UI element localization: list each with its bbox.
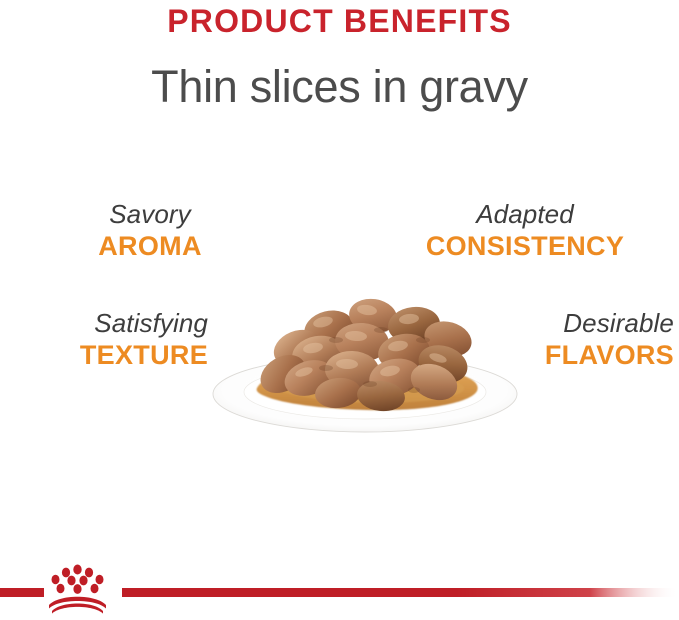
page-title: Thin slices in gravy: [0, 59, 679, 114]
benefit-noun: CONSISTENCY: [380, 230, 670, 262]
benefit-callout-aroma: Savory AROMA: [0, 199, 300, 262]
benefit-adjective: Satisfying: [0, 308, 208, 339]
benefit-callout-texture: Satisfying TEXTURE: [0, 308, 208, 371]
royal-canin-crown-logo-icon: [41, 561, 114, 614]
product-benefits-panel: PRODUCT BENEFITS Thin slices in gravy Sa…: [0, 0, 679, 620]
benefit-noun: TEXTURE: [0, 339, 208, 371]
page-eyebrow-title: PRODUCT BENEFITS: [0, 2, 679, 40]
product-food-image: [205, 282, 525, 437]
benefit-callout-consistency: Adapted CONSISTENCY: [380, 199, 670, 262]
benefit-adjective: Savory: [0, 199, 300, 230]
benefit-adjective: Adapted: [380, 199, 670, 230]
benefit-noun: AROMA: [0, 230, 300, 262]
